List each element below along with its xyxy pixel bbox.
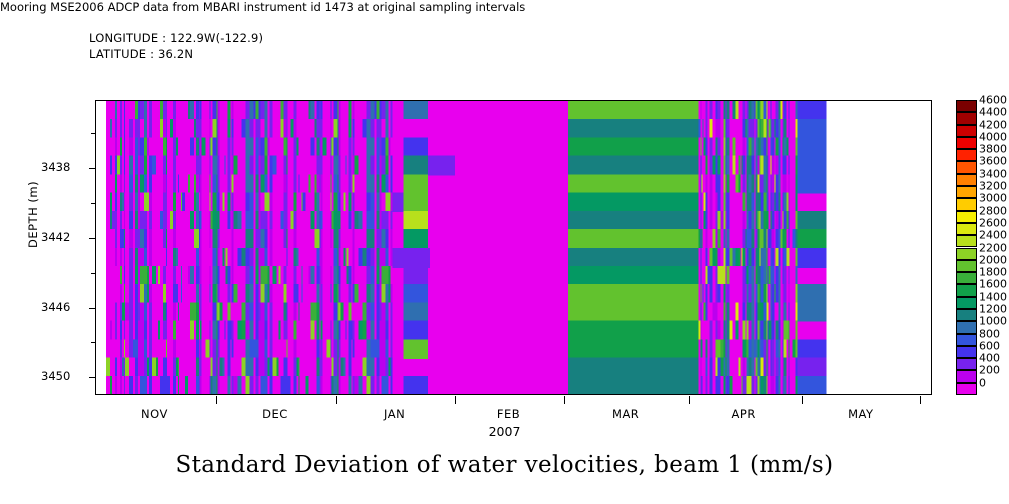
- colorbar-cell: [956, 186, 977, 198]
- colorbar-cell: [956, 100, 977, 112]
- colorbar-cell: [956, 370, 977, 382]
- y-axis-minor-tick: [91, 273, 96, 274]
- chart-page: LONGITUDE : 122.9W(-122.9) LATITUDE : 36…: [0, 0, 1009, 504]
- colorbar-cell: [956, 198, 977, 210]
- y-axis-tick-label: 3446: [41, 300, 70, 314]
- colorbar-cell: [956, 211, 977, 223]
- colorbar-tick-label: 1600: [979, 278, 1007, 291]
- x-axis-tick: [802, 396, 803, 404]
- longitude-label: LONGITUDE : 122.9W(-122.9): [89, 31, 263, 45]
- y-axis-tick: [89, 308, 96, 309]
- colorbar-tick-label: 1200: [979, 302, 1007, 315]
- colorbar-tick-label: 0: [979, 376, 986, 389]
- x-axis-title: 2007: [0, 424, 1009, 439]
- colorbar-cell: [956, 112, 977, 124]
- x-axis-tick: [336, 396, 337, 404]
- figure-caption: Standard Deviation of water velocities, …: [0, 452, 1009, 478]
- y-axis-tick-label: 3442: [41, 230, 70, 244]
- colorbar-tick-label: 1400: [979, 290, 1007, 303]
- y-axis-minor-tick: [91, 342, 96, 343]
- colorbar-tick-label: 4000: [979, 130, 1007, 143]
- colorbar-tick-label: 1000: [979, 315, 1007, 328]
- colorbar-cell: [956, 223, 977, 235]
- colorbar-tick-label: 800: [979, 327, 1000, 340]
- colorbar-tick-label: 3400: [979, 167, 1007, 180]
- colorbar-tick-labels: 4600440042004000380036003400320030002800…: [979, 100, 1009, 400]
- colorbar-cell: [956, 334, 977, 346]
- colorbar-cell: [956, 272, 977, 284]
- colorbar-cell: [956, 235, 977, 247]
- x-axis-tick: [920, 396, 921, 404]
- heatmap-canvas-wrapper: [96, 101, 931, 394]
- colorbar-cell: [956, 358, 977, 370]
- colorbar-cell: [956, 125, 977, 137]
- y-axis-tick-label: 3450: [41, 369, 70, 383]
- colorbar-tick-label: 3800: [979, 143, 1007, 156]
- colorbar-tick-label: 2400: [979, 229, 1007, 242]
- x-axis-tick-label: FEB: [497, 407, 520, 421]
- colorbar-tick-label: 200: [979, 364, 1000, 377]
- x-axis-tick: [455, 396, 456, 404]
- y-axis-tick: [89, 238, 96, 239]
- x-axis-tick-label: MAR: [612, 407, 639, 421]
- x-axis-tick-label: APR: [732, 407, 756, 421]
- x-axis-tick: [564, 396, 565, 404]
- y-axis-tick-label: 3438: [41, 160, 70, 174]
- colorbar-cell: [956, 174, 977, 186]
- colorbar-cell: [956, 149, 977, 161]
- colorbar-tick-label: 2000: [979, 253, 1007, 266]
- colorbar-cell: [956, 284, 977, 296]
- colorbar-cell: [956, 248, 977, 260]
- colorbar-tick-label: 3000: [979, 192, 1007, 205]
- y-axis-minor-tick: [91, 203, 96, 204]
- x-axis-tick: [689, 396, 690, 404]
- plot-title: Mooring MSE2006 ADCP data from MBARI ins…: [0, 0, 1009, 14]
- x-axis-tick-label: NOV: [141, 407, 168, 421]
- latitude-label: LATITUDE : 36.2N: [89, 47, 193, 61]
- heatmap-plot-area: [95, 100, 932, 395]
- x-axis-tick-label: JAN: [384, 407, 405, 421]
- x-axis-tick-label: MAY: [848, 407, 873, 421]
- y-axis-title: DEPTH (m): [26, 181, 40, 248]
- colorbar-tick-label: 4400: [979, 106, 1007, 119]
- colorbar-tick-label: 600: [979, 339, 1000, 352]
- colorbar-cell: [956, 260, 977, 272]
- colorbar-tick-label: 2200: [979, 241, 1007, 254]
- colorbar-cell: [956, 346, 977, 358]
- colorbar: [956, 100, 977, 395]
- colorbar-cell: [956, 297, 977, 309]
- colorbar-tick-label: 3200: [979, 180, 1007, 193]
- colorbar-cell: [956, 309, 977, 321]
- y-axis-minor-tick: [91, 133, 96, 134]
- colorbar-cell: [956, 321, 977, 333]
- colorbar-cell: [956, 383, 977, 395]
- colorbar-cell: [956, 161, 977, 173]
- y-axis-tick: [89, 377, 96, 378]
- colorbar-tick-label: 400: [979, 352, 1000, 365]
- x-axis-tick-label: DEC: [262, 407, 288, 421]
- colorbar-tick-label: 1800: [979, 266, 1007, 279]
- colorbar-tick-label: 2800: [979, 204, 1007, 217]
- colorbar-cell: [956, 137, 977, 149]
- colorbar-tick-label: 2600: [979, 216, 1007, 229]
- x-axis-tick: [216, 396, 217, 404]
- colorbar-tick-label: 3600: [979, 155, 1007, 168]
- y-axis-tick: [89, 168, 96, 169]
- colorbar-tick-label: 4600: [979, 94, 1007, 107]
- colorbar-tick-label: 4200: [979, 118, 1007, 131]
- heatmap-canvas: [96, 101, 931, 394]
